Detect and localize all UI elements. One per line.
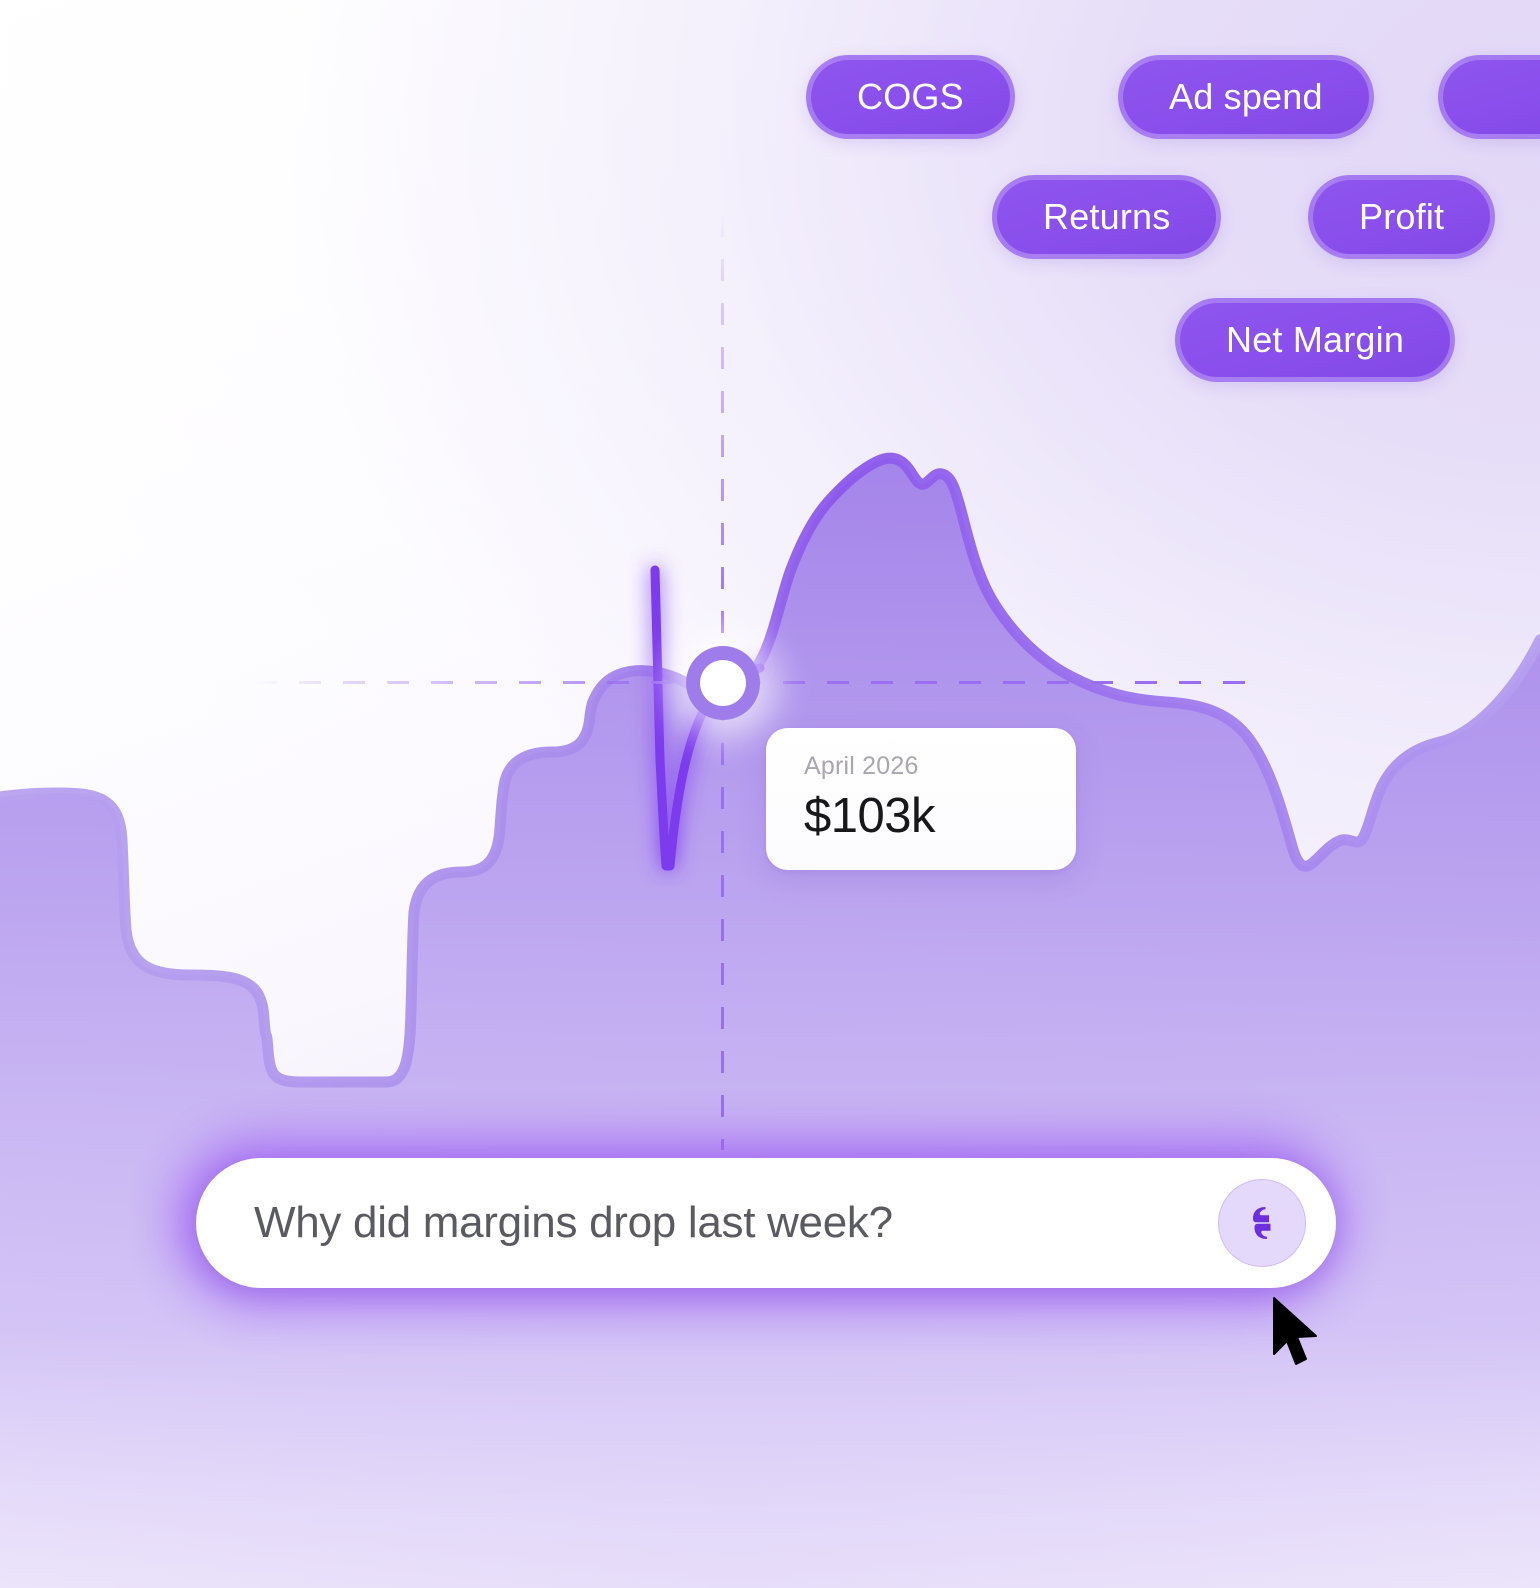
tooltip-date-label: April 2026 (804, 754, 1076, 779)
sparkle-bolt-icon (1240, 1201, 1284, 1245)
chip-net-margin[interactable]: Net Margin (1175, 298, 1455, 382)
chart-point-marker[interactable] (686, 646, 760, 720)
search-bar[interactable] (196, 1158, 1336, 1288)
chip-label: COGS (857, 76, 964, 118)
tooltip-value: $103k (804, 791, 1076, 842)
app-canvas: April 2026 $103k COGS Ad spend Returns P… (0, 0, 1540, 1588)
chip-label: Ad spend (1169, 76, 1323, 118)
chip-offscreen[interactable] (1438, 55, 1540, 139)
chip-label: Returns (1043, 196, 1170, 238)
chip-profit[interactable]: Profit (1308, 175, 1495, 259)
send-button[interactable] (1218, 1179, 1306, 1267)
chip-cogs[interactable]: COGS (806, 55, 1015, 139)
search-input[interactable] (254, 1198, 1218, 1248)
chip-label: Net Margin (1226, 319, 1404, 361)
chip-ad-spend[interactable]: Ad spend (1118, 55, 1374, 139)
chart-tooltip: April 2026 $103k (766, 728, 1076, 870)
chip-returns[interactable]: Returns (992, 175, 1221, 259)
chip-label: Profit (1359, 196, 1444, 238)
